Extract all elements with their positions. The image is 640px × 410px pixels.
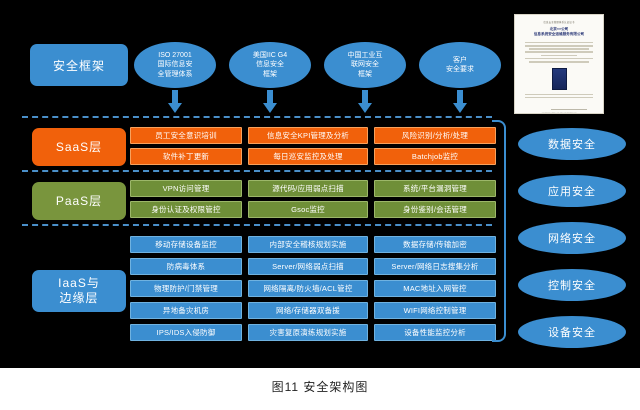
capability-cell: 风险识别/分析/处理 xyxy=(374,127,496,144)
standard-ellipse-customer-req: 客户安全要求 xyxy=(419,42,501,88)
standard-label: 客户安全要求 xyxy=(446,56,474,75)
standard-label: 中国工业互联网安全框架 xyxy=(348,51,383,79)
security-domain-label: 数据安全 xyxy=(548,136,596,152)
capability-cell: Server/网络日志搜集分析 xyxy=(374,258,496,275)
capability-cell: 系统/平台漏洞管理 xyxy=(374,180,496,197)
capability-cell: 信息安全KPI管理及分析 xyxy=(248,127,368,144)
figure-page: 安全框架 ISO 27001国际信息安全管理体系 美国IIC G4信息安全框架 … xyxy=(0,0,640,410)
capability-cell: 内部安全稽核规划实施 xyxy=(248,236,368,253)
layer-divider xyxy=(22,116,492,118)
down-arrow-icon xyxy=(358,90,372,116)
layer-label-text: IaaS与边缘层 xyxy=(58,276,100,306)
security-domain-data-security: 数据安全 xyxy=(518,128,626,160)
capability-cell: VPN访问管理 xyxy=(130,180,242,197)
security-domain-device-security: 设备安全 xyxy=(518,316,626,348)
layer-label-paas: PaaS层 xyxy=(32,182,126,220)
capability-cell: 身份认证及权限管控 xyxy=(130,201,242,218)
grouping-bracket xyxy=(492,120,506,342)
standard-label: ISO 27001国际信息安全管理体系 xyxy=(158,51,193,79)
capability-cell: 数据存储/传输加密 xyxy=(374,236,496,253)
capability-cell: Gsoc监控 xyxy=(248,201,368,218)
capability-cell: 身份鉴别/会话管理 xyxy=(374,201,496,218)
figure-caption: 图11 安全架构图 xyxy=(0,378,640,395)
capability-cell: 源代码/应用弱点扫描 xyxy=(248,180,368,197)
capability-cell: 灾害复原演练规划实施 xyxy=(248,324,368,341)
certificate-header-text: 信息安全管理体系认证证书 xyxy=(521,20,597,24)
standard-ellipse-china-iiot: 中国工业互联网安全框架 xyxy=(324,42,406,88)
layer-divider xyxy=(22,170,492,172)
capability-cell: 物理防护/门禁管理 xyxy=(130,280,242,297)
capability-cell: 设备性能监控分析 xyxy=(374,324,496,341)
capability-cell: 员工安全意识培训 xyxy=(130,127,242,144)
capability-cell: 防病毒体系 xyxy=(130,258,242,275)
capability-cell: 移动存储设备监控 xyxy=(130,236,242,253)
security-domain-control-security: 控制安全 xyxy=(518,269,626,301)
layer-label-text: SaaS层 xyxy=(56,140,102,155)
security-domain-label: 控制安全 xyxy=(548,277,596,293)
certificate-title-text: 北京××公司信息系统安全运维服务有限公司 xyxy=(521,27,597,38)
security-domain-label: 网络安全 xyxy=(548,230,596,246)
down-arrow-icon xyxy=(263,90,277,116)
layer-label-iaas: IaaS与边缘层 xyxy=(32,270,126,312)
capability-cell: 软件补丁更新 xyxy=(130,148,242,165)
capability-cell: 异地备灾机房 xyxy=(130,302,242,319)
layer-label-saas: SaaS层 xyxy=(32,128,126,166)
down-arrow-icon xyxy=(453,90,467,116)
capability-cell: Batchjob监控 xyxy=(374,148,496,165)
down-arrow-icon xyxy=(168,90,182,116)
standard-ellipse-iso-27001: ISO 27001国际信息安全管理体系 xyxy=(134,42,216,88)
certificate-footer-text: CERTIFICATE OF REGISTRATION xyxy=(521,113,597,114)
security-domain-label: 设备安全 xyxy=(548,324,596,340)
security-domain-application-security: 应用安全 xyxy=(518,175,626,207)
capability-cell: WIFI网络控制管理 xyxy=(374,302,496,319)
standard-ellipse-iic-g4: 美国IIC G4信息安全框架 xyxy=(229,42,311,88)
security-domain-network-security: 网络安全 xyxy=(518,222,626,254)
certificate-seal-icon xyxy=(552,68,567,90)
iso-certificate-image: 信息安全管理体系认证证书 北京××公司信息系统安全运维服务有限公司 CERTIF… xyxy=(514,14,604,114)
capability-cell: Server/网络弱点扫描 xyxy=(248,258,368,275)
capability-cell: IPS/IDS入侵防御 xyxy=(130,324,242,341)
security-framework-label: 安全框架 xyxy=(53,57,105,74)
capability-cell: 网络隔离/防火墙/ACL管控 xyxy=(248,280,368,297)
layer-divider xyxy=(22,224,492,226)
security-framework-box: 安全框架 xyxy=(30,44,128,86)
capability-cell: 每日巡安监控及处理 xyxy=(248,148,368,165)
capability-cell: MAC地址入网管控 xyxy=(374,280,496,297)
layer-label-text: PaaS层 xyxy=(56,194,102,209)
standard-label: 美国IIC G4信息安全框架 xyxy=(253,51,287,79)
certificate-signature xyxy=(551,100,587,110)
capability-cell: 网络/存储器双备援 xyxy=(248,302,368,319)
security-domain-label: 应用安全 xyxy=(548,183,596,199)
